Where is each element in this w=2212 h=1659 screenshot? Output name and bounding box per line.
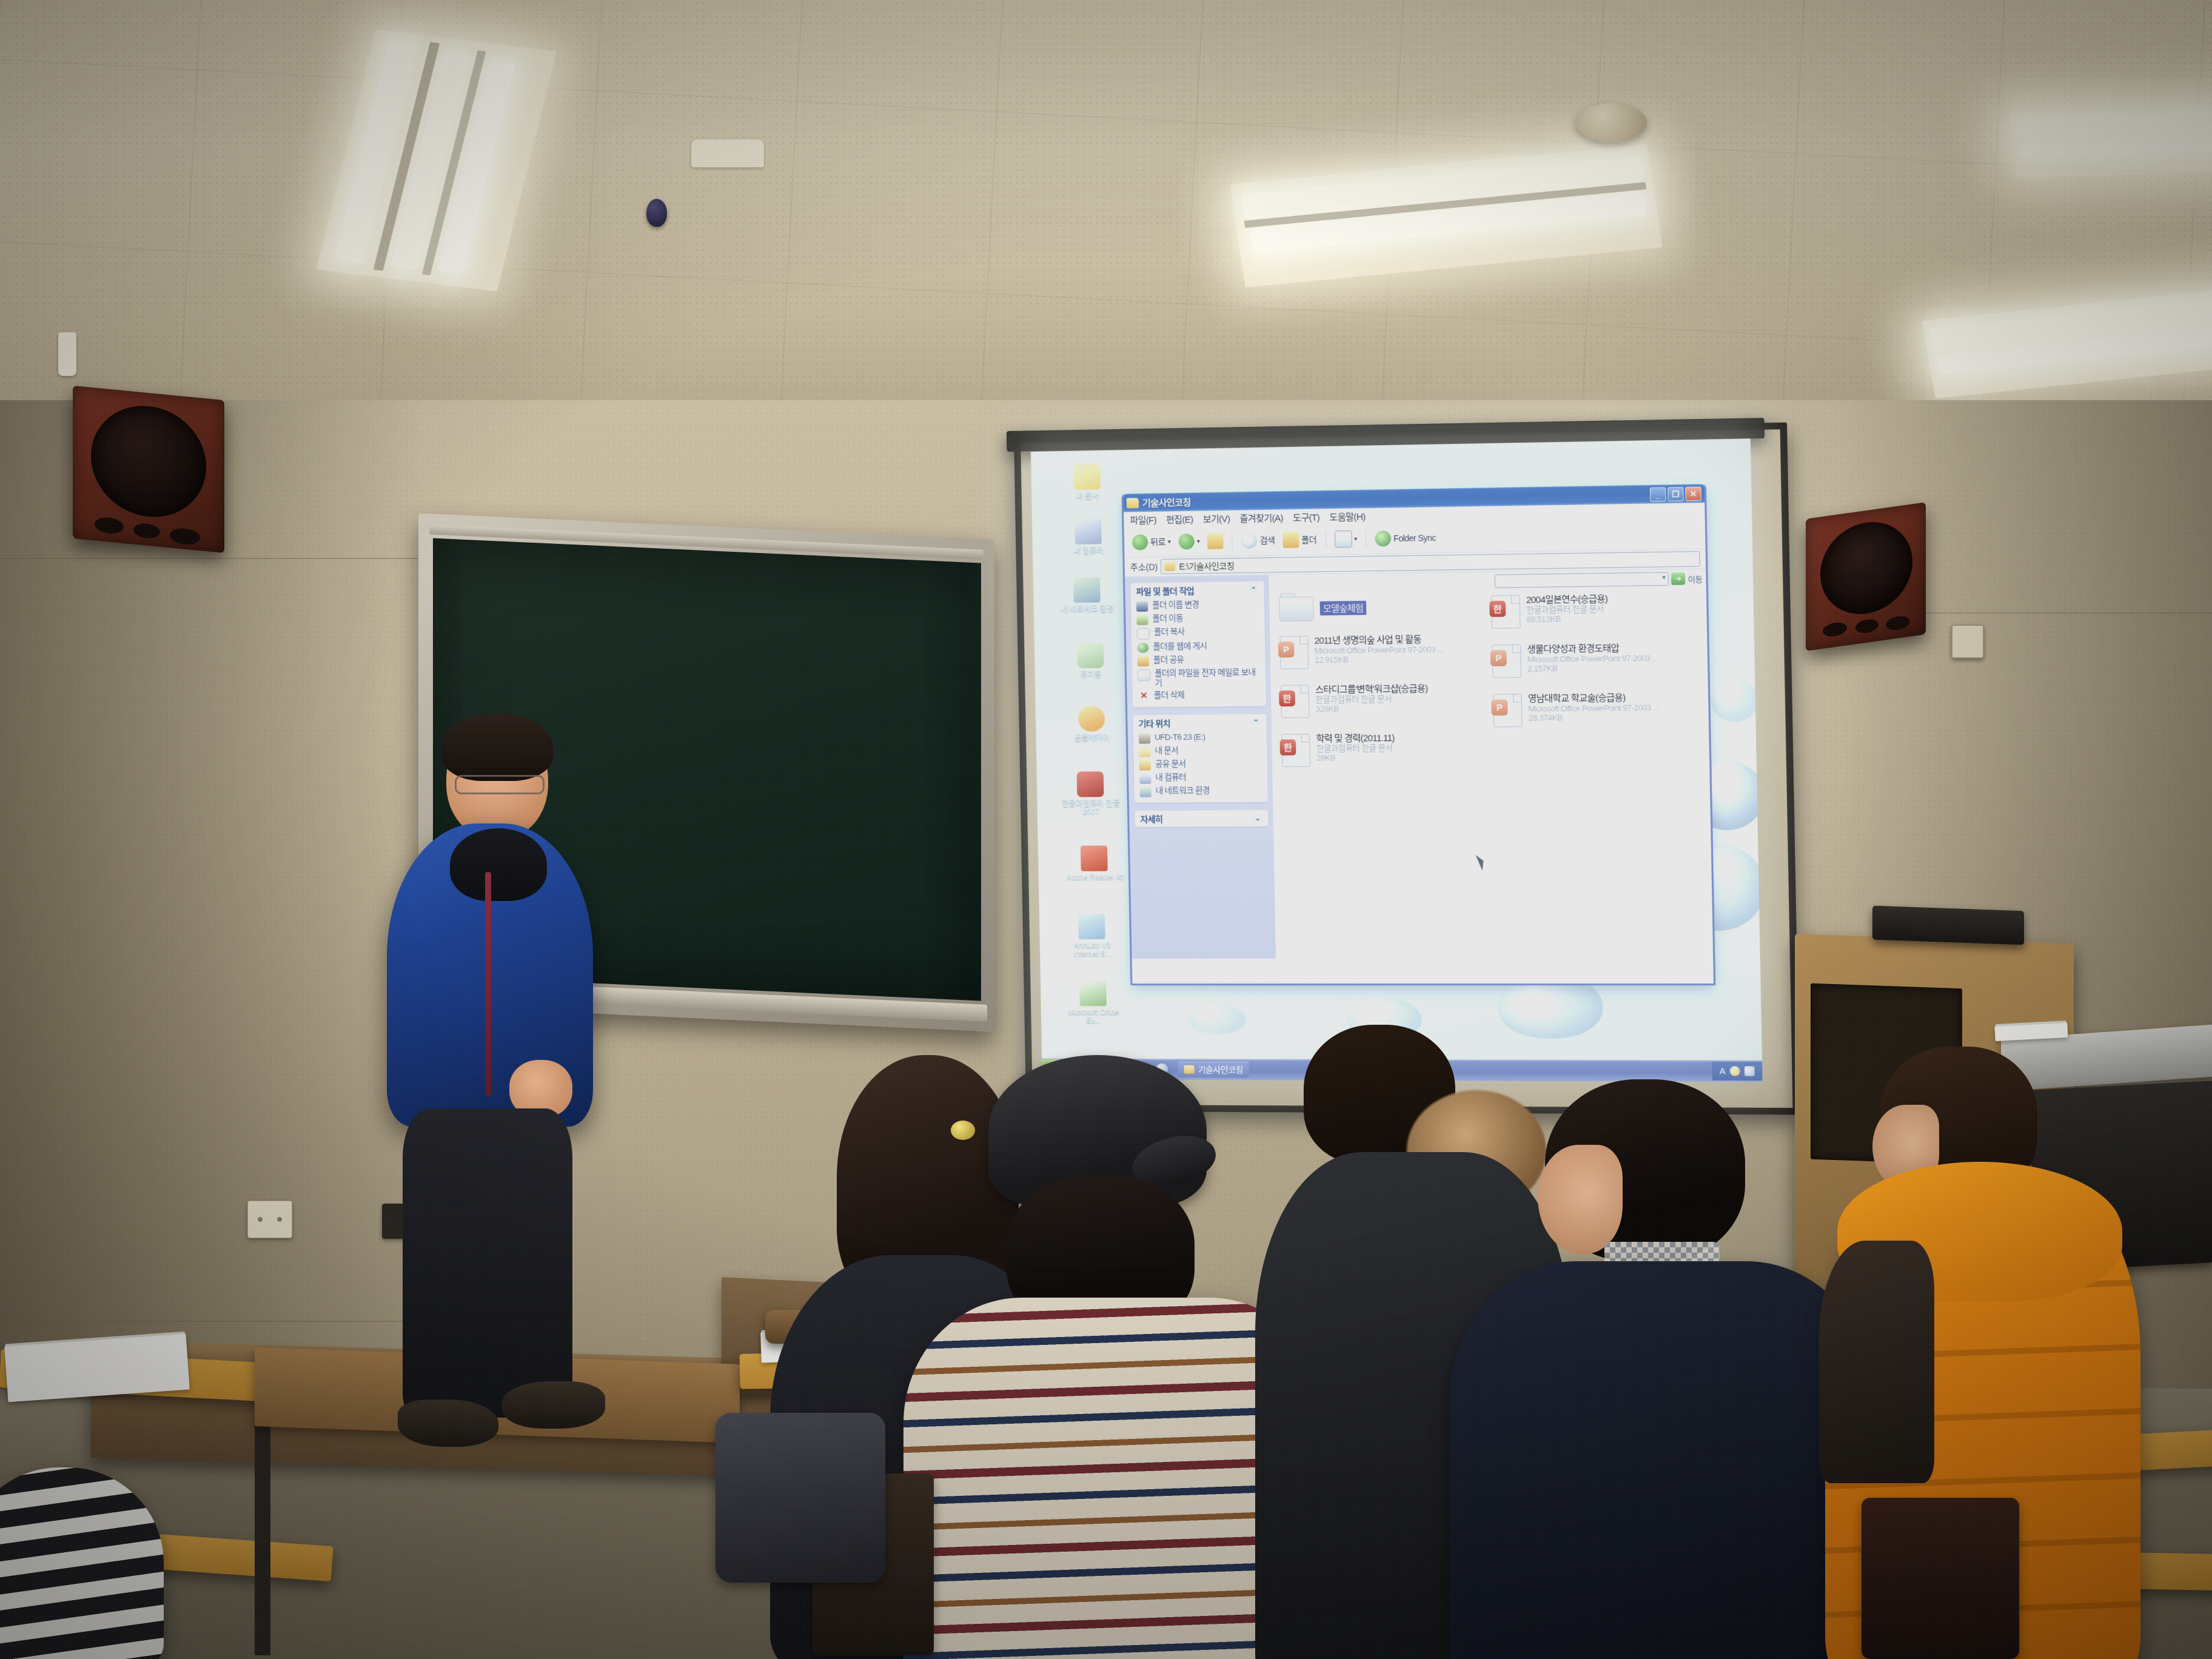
window-title: 기술사인코칭 (1142, 495, 1191, 509)
views-icon (1334, 531, 1352, 548)
presenter-zipper (485, 872, 491, 1096)
address-value: E:\기술사인코칭 (1179, 560, 1234, 572)
chevron-down-icon[interactable]: ▾ (1354, 535, 1357, 542)
desktop-icon-my-computer[interactable]: 내 컴퓨터 (1059, 518, 1118, 555)
my-documents-icon (1073, 464, 1101, 490)
microsoft-excel-icon (1079, 980, 1107, 1006)
file-size: 28KB (1316, 752, 1395, 762)
task-rename-folder[interactable]: 폴더 이름 변경 (1131, 598, 1265, 613)
my-network-places-icon (1073, 577, 1101, 603)
back-button[interactable]: 뒤로 ▾ (1130, 532, 1173, 551)
my-documents-icon (1139, 746, 1150, 757)
place-my-computer[interactable]: 내 컴퓨터 (1134, 771, 1268, 785)
file-type: 한글과컴퓨터 한글 문서 (1315, 694, 1428, 705)
section-header[interactable]: 파일 및 폴더 작업 ⌃ (1130, 581, 1264, 600)
recycle-bin-icon (1077, 643, 1104, 669)
mouse-cursor-icon (1475, 851, 1491, 871)
chevron-up-icon[interactable]: ⌃ (1248, 585, 1259, 595)
file-size: 12,915KB (1315, 654, 1443, 665)
explorer-window[interactable]: 기술사인코칭 _ ❐ ✕ 파일(F) 편집(E) 보기(V) 즐겨찾기(A) 도… (1122, 484, 1716, 985)
folder-icon (1184, 1065, 1194, 1074)
shared-documents-icon (1139, 760, 1151, 771)
file-size: 28,374KB (1529, 712, 1659, 723)
forward-arrow-icon (1178, 534, 1195, 550)
menu-help[interactable]: 도움말(H) (1329, 510, 1366, 523)
presenter-glasses-icon (455, 775, 545, 794)
ime-indicator-icon[interactable]: A (1720, 1066, 1726, 1076)
hwp-file-icon: 한 (1491, 595, 1520, 628)
file-list-item[interactable]: 한 2004일본연수(승급용) 한글과컴퓨터 한글 문서 88,513KB (1491, 592, 1707, 629)
place-network[interactable]: 내 네트워크 환경 (1134, 784, 1268, 799)
task-copy-folder[interactable]: 폴더 복사 (1131, 625, 1265, 641)
chevron-up-icon[interactable]: ⌃ (1250, 717, 1261, 728)
task-pane-section-other-places: 기타 위치 ⌃ UFD-T6 23 (E:) 내 문서 공유 문서 (1133, 714, 1268, 803)
file-name: 스타디그룹'변혁'워크샵(승급용) (1315, 683, 1428, 695)
desktop-icon-my-documents[interactable]: 내 문서 (1057, 463, 1116, 500)
maximize-button[interactable]: ❐ (1667, 487, 1684, 501)
desktop-icon-hangul-2007[interactable]: 한글과컴퓨터 한글 2007 (1061, 771, 1121, 816)
system-tray[interactable]: A (1712, 1062, 1763, 1081)
ceiling-sprinkler-icon (58, 332, 76, 376)
delete-x-icon: ✕ (1138, 691, 1150, 702)
chevron-down-icon[interactable]: ▾ (1197, 538, 1200, 545)
path-combo-input[interactable] (1495, 572, 1669, 588)
menu-view[interactable]: 보기(V) (1202, 512, 1230, 525)
my-computer-icon (1139, 774, 1151, 784)
file-list-item[interactable]: P 2011년 생명의숲 사업 및 활동 Microsoft Office Po… (1279, 634, 1492, 669)
forward-button[interactable]: ▾ (1176, 532, 1202, 551)
task-pane-section-details: 자세히 ⌄ (1134, 810, 1269, 827)
my-network-places-icon (1140, 787, 1151, 797)
section-header[interactable]: 자세히 ⌄ (1134, 810, 1269, 827)
gom-player-icon (1078, 706, 1105, 731)
file-type: Microsoft Office PowerPoint 97-2003 ... (1528, 703, 1658, 713)
wall-outlet[interactable] (247, 1201, 292, 1238)
desktop-icon-recycle-bin[interactable]: 휴지통 (1061, 642, 1120, 679)
audience-face (1538, 1145, 1623, 1254)
file-list-item[interactable]: P 영남대학교 학교술(승급용) Microsoft Office PowerP… (1493, 692, 1709, 727)
section-header[interactable]: 기타 위치 ⌃ (1133, 714, 1267, 731)
place-my-documents[interactable]: 내 문서 (1133, 744, 1267, 759)
my-computer-icon (1074, 518, 1102, 545)
hair-tie-icon (951, 1121, 975, 1140)
folders-button[interactable]: 폴더 (1280, 531, 1319, 549)
file-name: 2004일본연수(승급용) (1526, 594, 1607, 605)
menu-tools[interactable]: 도구(T) (1293, 511, 1319, 524)
task-pane: 파일 및 폴더 작업 ⌃ 폴더 이름 변경 폴더 이동 폴더 복사 (1125, 575, 1276, 959)
folder-icon (1279, 593, 1314, 622)
chevron-down-icon[interactable]: ▾ (1168, 538, 1171, 545)
file-list-item[interactable]: P 생물다양성과 환경도태압 Microsoft Office PowerPoi… (1492, 642, 1708, 678)
desktop-icon-network-places[interactable]: 내 네트워크 환경 (1057, 577, 1116, 613)
wall-speaker-right (1806, 502, 1926, 651)
task-share-folder[interactable]: 폴더 공유 (1131, 653, 1265, 668)
wall-speaker-left (73, 386, 224, 553)
network-icon[interactable] (1744, 1066, 1755, 1076)
task-email-files[interactable]: 폴더의 파일을 전자 메일로 보내기 (1132, 666, 1266, 690)
file-size: 2,157KB (1527, 663, 1658, 674)
back-arrow-icon (1132, 534, 1148, 550)
file-list-folder[interactable]: 모델숲체험 (1279, 591, 1492, 622)
file-size: 88,513KB (1526, 614, 1607, 624)
hwp-file-icon: 한 (1281, 685, 1310, 718)
desktop-icon-ahnlab-v3[interactable]: AhnLab V3 Internet S... (1062, 914, 1122, 958)
file-size: 329KB (1316, 703, 1429, 714)
desktop-icon-ms-excel[interactable]: Microsoft Office Ex... (1064, 980, 1123, 1025)
taskbar-item-explorer[interactable]: 기술사인코칭 (1178, 1062, 1249, 1078)
go-label: 이동 (1687, 572, 1702, 585)
ahnlab-v3-icon (1078, 914, 1105, 939)
publish-web-icon (1137, 643, 1148, 653)
explorer-body: 파일 및 폴더 작업 ⌃ 폴더 이름 변경 폴더 이동 폴더 복사 (1125, 569, 1713, 959)
classroom-scene: 내 문서 내 컴퓨터 내 네트워크 환경 휴지통 곰플레이어 한글과컴퓨터 한글… (0, 0, 2212, 1659)
folder-sync-icon (1375, 531, 1391, 547)
menu-edit[interactable]: 편집(E) (1166, 512, 1193, 526)
hwp-file-icon: 한 (1281, 734, 1310, 767)
desk-leg (255, 1395, 270, 1655)
file-name: 학력 및 경력(2011.11) (1316, 733, 1394, 744)
presenter-hair (441, 713, 553, 781)
folder-icon (1164, 562, 1175, 571)
folder-icon (1127, 498, 1139, 508)
place-shared-documents[interactable]: 공유 문서 (1134, 757, 1268, 772)
rename-icon (1136, 602, 1148, 612)
place-usb-drive[interactable]: UFD-T6 23 (E:) (1133, 731, 1267, 745)
powerpoint-file-icon: P (1279, 636, 1309, 669)
task-pane-section-file-folder: 파일 및 폴더 작업 ⌃ 폴더 이름 변경 폴더 이동 폴더 복사 (1130, 581, 1266, 708)
share-folder-icon (1138, 656, 1149, 666)
minimize-button[interactable]: _ (1650, 487, 1666, 501)
move-folder-icon (1136, 615, 1148, 625)
task-delete-folder[interactable]: ✕ 폴더 삭제 (1133, 688, 1267, 703)
folders-icon (1282, 532, 1299, 548)
presenter-shoe-right (502, 1381, 605, 1429)
go-combo[interactable]: ➔ 이동 (1495, 572, 1703, 588)
desktop-icon-adobe-reader[interactable]: Adobe Reader XI (1065, 845, 1124, 882)
ceiling-dome-speaker (1575, 103, 1647, 142)
menu-favorites[interactable]: 즐겨찾기(A) (1239, 511, 1283, 525)
folder-name: 모델숲체험 (1320, 601, 1367, 615)
usb-drive-icon (1139, 733, 1150, 743)
folder-sync-button[interactable]: Folder Sync (1372, 529, 1438, 548)
up-folder-icon (1207, 533, 1224, 549)
file-type: Microsoft Office PowerPoint 97-2003 ... (1315, 645, 1443, 655)
hancom-hangul-icon (1077, 771, 1104, 797)
go-arrow-icon[interactable]: ➔ (1671, 572, 1685, 585)
up-button[interactable] (1205, 532, 1226, 551)
menu-file[interactable]: 파일(F) (1130, 513, 1156, 526)
file-list[interactable]: ➔ 이동 모델숲체험 (1269, 569, 1713, 958)
powerpoint-file-icon: P (1493, 694, 1522, 727)
presenter-trousers (403, 1108, 572, 1418)
task-publish-web[interactable]: 폴더를 웹에 게시 (1131, 639, 1265, 654)
file-type: 한글과컴퓨터 한글 문서 (1316, 743, 1395, 753)
ceiling-light-4 (2009, 104, 2212, 178)
presenter-shoe-left (398, 1399, 498, 1447)
close-button[interactable]: ✕ (1685, 486, 1701, 501)
projection-screen: 내 문서 내 컴퓨터 내 네트워크 환경 휴지통 곰플레이어 한글과컴퓨터 한글… (1031, 438, 1763, 1082)
volume-icon[interactable] (1730, 1066, 1740, 1076)
copy-folder-icon (1137, 628, 1150, 640)
file-type: Microsoft Office PowerPoint 97-2003 ... (1527, 653, 1658, 664)
file-list-item[interactable]: 한 스타디그룹'변혁'워크샵(승급용) 한글과컴퓨터 한글 문서 329KB (1281, 683, 1493, 718)
file-type: 한글과컴퓨터 한글 문서 (1526, 605, 1607, 615)
email-icon (1138, 669, 1150, 681)
ceiling-smoke-detector-icon (691, 139, 764, 167)
address-label: 주소(D) (1130, 560, 1158, 573)
coat-inner-dark (1819, 1241, 1934, 1483)
ceiling-sensor-icon (646, 199, 667, 227)
task-move-folder[interactable]: 폴더 이동 (1131, 611, 1265, 626)
bag-under-desk (716, 1413, 885, 1583)
search-icon (1241, 532, 1258, 549)
av-device (1872, 906, 2024, 945)
wall-jack-right[interactable] (1951, 625, 1984, 659)
file-name: 영남대학교 학교술(승급용) (1528, 692, 1658, 704)
adobe-reader-icon (1081, 846, 1108, 871)
powerpoint-file-icon: P (1492, 645, 1521, 678)
search-button[interactable]: 검색 (1239, 531, 1278, 550)
chevron-down-icon[interactable]: ⌄ (1252, 813, 1263, 823)
audience-body (1449, 1261, 1874, 1659)
views-button[interactable]: ▾ (1332, 529, 1359, 549)
presenter-jacket-collar (450, 828, 547, 901)
file-list-item[interactable]: 한 학력 및 경력(2011.11) 한글과컴퓨터 한글 문서 28KB (1281, 732, 1494, 767)
chair-back-right (1862, 1498, 2019, 1659)
desktop-icon-gom-player[interactable]: 곰플레이어 (1062, 706, 1121, 742)
